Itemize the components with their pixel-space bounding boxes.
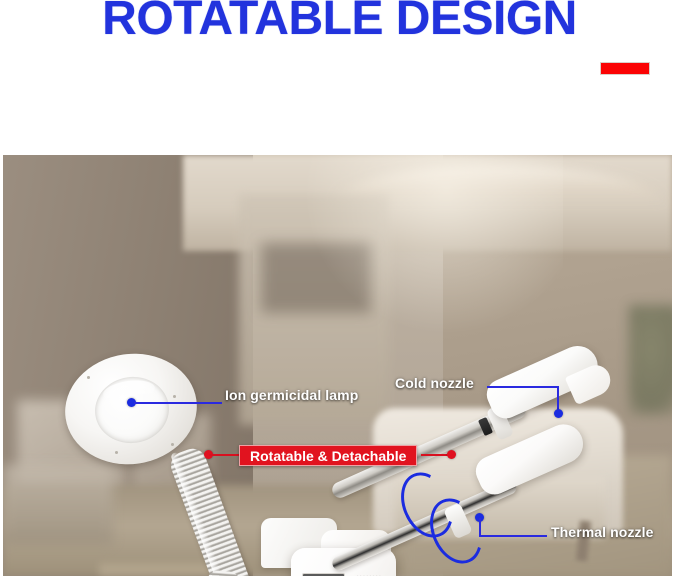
- background-stool: [3, 465, 113, 545]
- background-light-glow: [303, 155, 563, 335]
- callout-line-ion-lamp: [134, 402, 222, 404]
- infographic-page: ROTATABLE DESIGN: [0, 0, 679, 576]
- gooseneck-arm: [166, 451, 276, 576]
- lamp-screw: [115, 451, 118, 454]
- accent-bar: [600, 62, 650, 75]
- callout-dot-cold-nozzle: [554, 409, 563, 418]
- callout-label-cold-nozzle: Cold nozzle: [395, 375, 474, 391]
- callout-line-rotatable-left: [209, 454, 241, 456]
- badge-rotatable-detachable: Rotatable & Detachable: [239, 445, 417, 466]
- background-plant: [629, 305, 672, 415]
- callout-label-thermal-nozzle: Thermal nozzle: [551, 524, 654, 540]
- lamp-screw: [87, 376, 90, 379]
- callout-dot-rotatable-right: [447, 450, 456, 459]
- lamp-screw: [173, 395, 176, 398]
- header-banner: ROTATABLE DESIGN: [0, 0, 679, 155]
- lamp-screw: [171, 443, 174, 446]
- callout-line-cold-nozzle-horizontal: [487, 386, 559, 388]
- product-photo: Ion germicidal lamp Rotatable & Detachab…: [3, 155, 672, 576]
- page-title: ROTATABLE DESIGN: [0, 0, 679, 46]
- callout-line-thermal-nozzle-horizontal: [479, 535, 547, 537]
- callout-label-ion-germicidal-lamp: Ion germicidal lamp: [225, 387, 358, 403]
